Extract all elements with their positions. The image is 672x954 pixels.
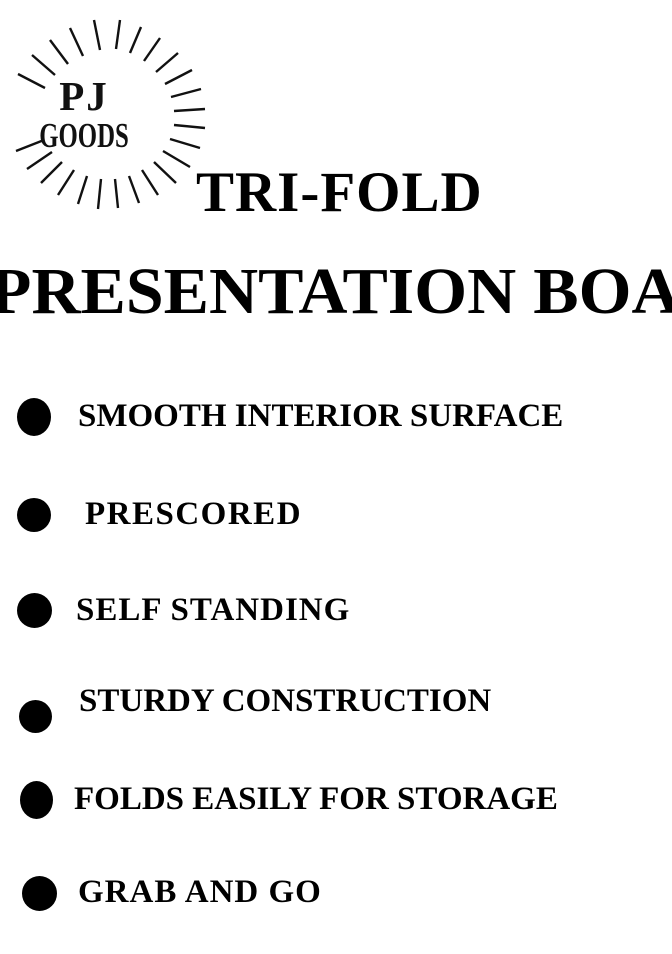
feature-label: STURDY CONSTRUCTION (79, 685, 491, 718)
list-item: SELF STANDING (0, 570, 672, 666)
filled-circle-bullet-icon (20, 781, 53, 819)
filled-circle-bullet-icon (22, 876, 57, 911)
feature-label: SELF STANDING (76, 594, 350, 627)
feature-label: SMOOTH INTERIOR SURFACE (78, 400, 563, 433)
list-item: GRAB AND GO (0, 858, 672, 954)
product-title-line-2: PRESENTATION BOARD (0, 259, 672, 325)
filled-circle-bullet-icon (17, 498, 51, 532)
filled-circle-bullet-icon (19, 700, 52, 733)
feature-label: GRAB AND GO (78, 876, 322, 909)
product-feature-graphic: PJ GOODS TRI-FOLD PRESENTATION BOARD SMO… (0, 0, 672, 943)
product-title-line-1: TRI-FOLD (196, 164, 483, 221)
brand-name-primary: PJ (59, 76, 109, 116)
brand-wordmark: PJ GOODS (8, 12, 218, 217)
list-item: FOLDS EASILY FOR STORAGE (0, 762, 672, 858)
list-item: SMOOTH INTERIOR SURFACE (0, 378, 672, 474)
feature-list: SMOOTH INTERIOR SURFACE PRESCORED SELF S… (0, 378, 672, 954)
brand-name-secondary: GOODS (39, 118, 129, 154)
list-item: STURDY CONSTRUCTION (0, 666, 672, 762)
filled-circle-bullet-icon (17, 398, 51, 436)
feature-label: FOLDS EASILY FOR STORAGE (74, 783, 558, 816)
feature-label: PRESCORED (85, 498, 302, 531)
brand-logo: PJ GOODS (8, 12, 218, 217)
list-item: PRESCORED (0, 474, 672, 570)
filled-circle-bullet-icon (17, 593, 52, 628)
